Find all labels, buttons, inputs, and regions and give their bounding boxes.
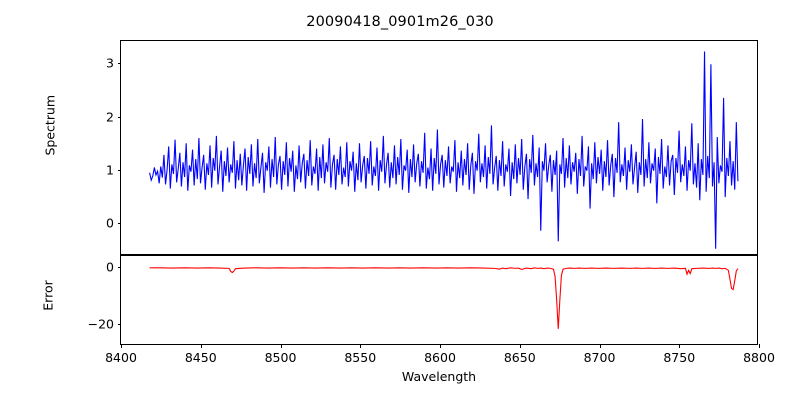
xtick-label: 8700 (584, 350, 616, 365)
xtick-mark (440, 344, 441, 348)
xtick-label: 8450 (185, 350, 217, 365)
page-title: 20090418_0901m26_030 (0, 14, 800, 30)
error-axes: 0−20 84008450850085508600865087008750880… (120, 255, 758, 345)
spectrum-line-plot (121, 41, 757, 254)
xtick-mark (759, 344, 760, 348)
error-data-line (150, 268, 738, 329)
ytick-mark (118, 63, 122, 64)
xtick-mark (520, 344, 521, 348)
ytick-mark (118, 324, 122, 325)
xtick-label: 8600 (424, 350, 456, 365)
error-axis-label: Error (41, 266, 56, 326)
ytick-label: 2 (106, 109, 114, 124)
ytick-mark (118, 267, 122, 268)
xtick-mark (600, 344, 601, 348)
xtick-mark (281, 344, 282, 348)
xtick-mark (360, 344, 361, 348)
ytick-mark (118, 223, 122, 224)
ytick-label: 1 (106, 162, 114, 177)
xtick-mark (679, 344, 680, 348)
matplotlib-figure: 20090418_0901m26_030 0123 Spectrum 0−20 … (0, 0, 800, 400)
error-line-plot (121, 256, 757, 344)
xtick-label: 8400 (105, 350, 137, 365)
spectrum-data-line (150, 52, 738, 249)
x-axis-label: Wavelength (120, 369, 758, 384)
xtick-label: 8800 (743, 350, 775, 365)
xtick-label: 8750 (663, 350, 695, 365)
spectrum-axes: 0123 (120, 40, 758, 255)
ytick-label: 0 (106, 260, 114, 275)
xtick-mark (201, 344, 202, 348)
spectrum-axis-label: Spectrum (43, 96, 58, 156)
ytick-label: 3 (106, 56, 114, 71)
ytick-mark (118, 170, 122, 171)
ytick-mark (118, 117, 122, 118)
xtick-label: 8550 (344, 350, 376, 365)
xtick-mark (121, 344, 122, 348)
xtick-label: 8650 (504, 350, 536, 365)
ytick-label: 0 (106, 216, 114, 231)
xtick-label: 8500 (265, 350, 297, 365)
ytick-label: −20 (88, 316, 114, 331)
